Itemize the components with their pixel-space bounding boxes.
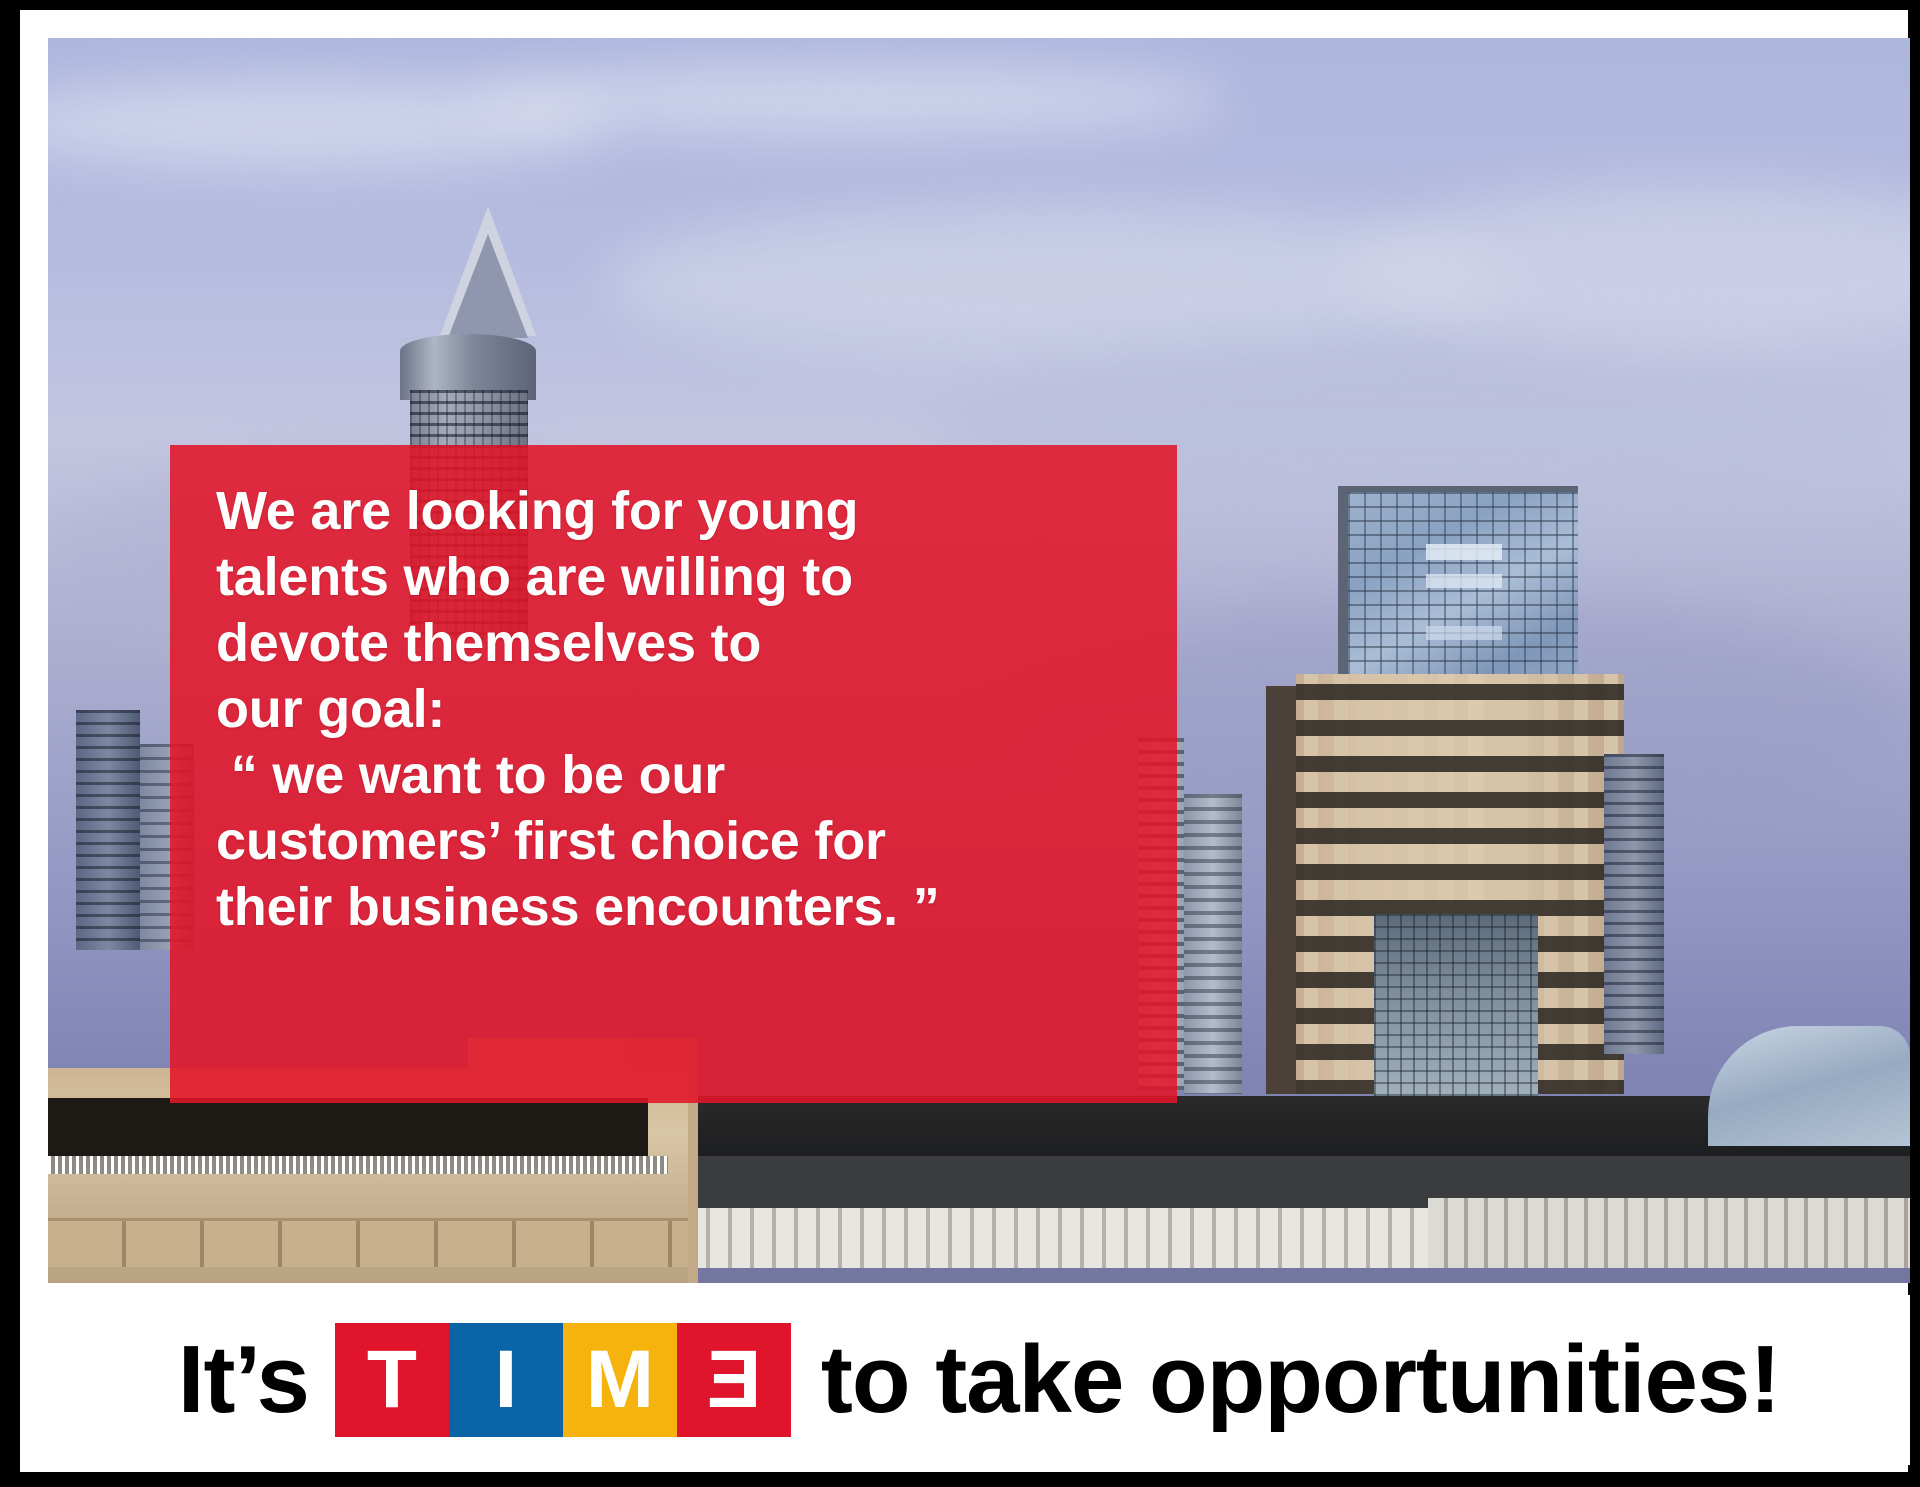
time-logo-tile-t: T [335,1323,449,1437]
quote-line: “ we want to be our [216,742,1176,808]
window-grid [1374,914,1538,1096]
slide-canvas: We are looking for young talents who are… [20,10,1908,1472]
quote-line: their business encounters. ” [216,874,1176,940]
stone-tower-arch-opening [1374,914,1538,1096]
cloud-shape [608,208,1508,358]
stone-tower-shadow-side [1266,686,1298,1094]
lowrise-glass-facade [688,1208,1428,1268]
glass-atrium [1708,1026,1910,1146]
quote-line: devote themselves to [216,610,1176,676]
glass-reflection-band [1426,574,1502,588]
frankfurt-skyline-photo: We are looking for young talents who are… [48,38,1910,1283]
window-grid [76,710,140,950]
time-logo-tile-m: M [563,1323,677,1437]
slide-frame: We are looking for young talents who are… [0,0,1920,1487]
messeturm-spire-inner [448,234,528,338]
time-logo: T I M E [335,1323,791,1437]
tagline-bar: It’s T I M E to take opportunities! [48,1295,1910,1465]
parking-deck-opening [48,1098,648,1156]
lowrise-glass-facade-2 [1428,1198,1910,1268]
cloud-shape [1348,188,1910,348]
far-right-tower [1604,754,1664,1054]
quote-line: talents who are willing to [216,544,1176,610]
quote-line: customers’ first choice for [216,808,1176,874]
glass-reflection-band [1426,626,1502,640]
quote-text: We are looking for young talents who are… [216,478,1176,940]
time-logo-tile-e-mirrored: E [677,1323,791,1437]
mid-slab-tower-2 [1184,794,1242,1094]
window-grid [1604,754,1664,1054]
left-tower-a [76,710,140,950]
time-logo-tile-i: I [449,1323,563,1437]
window-grid [1348,492,1578,686]
tagline-prefix: It’s [178,1332,309,1428]
parking-deck-panel-band [48,1218,688,1267]
quote-line: our goal: [216,676,1176,742]
glass-reflection-band [1426,544,1502,560]
tagline-suffix: to take opportunities! [821,1332,1780,1428]
quote-line: We are looking for young [216,478,1176,544]
parking-deck-railing [48,1156,668,1174]
cloud-shape [468,64,1228,134]
cloud-shape [48,78,608,168]
window-grid [1184,794,1242,1094]
